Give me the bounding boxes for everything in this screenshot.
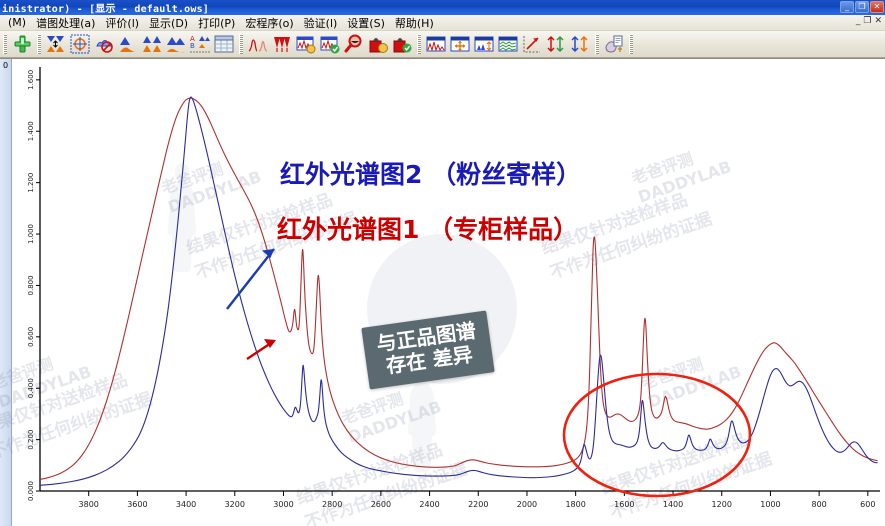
x-tick-label: 1600: [614, 500, 634, 509]
toolbar-grip[interactable]: [3, 34, 7, 54]
y-tick-label: 1.200: [27, 173, 35, 193]
menu-bar: (M) 谱图处理(a) 评价(l) 显示(D) 打印(P) 宏程序(o) 验证(…: [0, 15, 885, 31]
x-tick-label: 3200: [225, 500, 245, 509]
menu-item-validation[interactable]: 验证(l): [299, 14, 343, 32]
mdi-close-button[interactable]: ✕: [874, 17, 882, 26]
peak-mark-icon[interactable]: [271, 33, 293, 55]
document-rail[interactable]: 0: [0, 59, 12, 526]
spectrum-plot[interactable]: 结果仅针对送检样品 不作为任何纠纷的证据 结果仅针对送检样品 不作为任何纠纷的证…: [12, 59, 885, 526]
svg-text:B: B: [190, 42, 195, 50]
expand-y-icon[interactable]: [545, 33, 567, 55]
toolbar-grip-5[interactable]: [595, 34, 599, 54]
overlay-icon[interactable]: [165, 33, 187, 55]
pan-view-icon[interactable]: [449, 33, 471, 55]
toolbar-grip-2[interactable]: [37, 34, 41, 54]
mdi-window-controls: _ ❐ ✕: [856, 17, 882, 26]
x-tick-label: 600: [860, 500, 875, 509]
scale-view-icon[interactable]: [473, 33, 495, 55]
y-tick-label: 0.200: [27, 430, 35, 450]
y-tick-label: 0.800: [27, 275, 35, 295]
x-tick-label: 2800: [322, 500, 342, 509]
quant-verify-icon[interactable]: [391, 33, 413, 55]
toolbar-group-report: [602, 31, 636, 57]
expand-x-icon[interactable]: [569, 33, 591, 55]
x-tick-label: 2600: [371, 500, 391, 509]
menu-item-help[interactable]: 帮助(H): [390, 14, 439, 32]
application-window: inistrator) - [显示 - default.ows] _ ❐ ✕ (…: [0, 0, 885, 526]
subtract-spectrum-icon[interactable]: [93, 33, 115, 55]
menu-item-spectrum-processing[interactable]: 谱图处理(a): [31, 14, 100, 32]
mdi-restore-button[interactable]: ❐: [863, 17, 871, 26]
rail-index-label: 0: [0, 59, 11, 70]
toolbar-group-analysis: [246, 31, 424, 57]
x-tick-label: 1800: [565, 500, 585, 509]
menu-item-macro[interactable]: 宏程序(o): [240, 14, 298, 32]
menu-item-file[interactable]: (M): [3, 15, 31, 30]
toolbar-group-view: [424, 31, 602, 57]
merge-peaks-icon[interactable]: [141, 33, 163, 55]
y-tick-label: 1.400: [27, 121, 35, 141]
toolbar-group-spectrum-tools: A B: [44, 31, 246, 57]
x-tick-label: 1200: [712, 500, 732, 509]
menu-item-print[interactable]: 打印(P): [193, 14, 240, 32]
menu-item-display[interactable]: 显示(D): [144, 14, 193, 32]
toolbar-group-sample: [0, 31, 44, 57]
full-spectrum-view-icon[interactable]: [425, 33, 447, 55]
x-tick-label: 3400: [176, 500, 196, 509]
restore-button[interactable]: ❐: [855, 1, 869, 13]
menu-item-settings[interactable]: 设置(S): [342, 14, 390, 32]
y-tick-label: 0.400: [27, 378, 35, 398]
spectrum-grid-icon[interactable]: [69, 33, 91, 55]
menu-item-evaluate[interactable]: 评价(l): [100, 14, 144, 32]
series1-annotation-label: 红外光谱图1 （专柜样品）: [277, 217, 578, 242]
quant-run-icon[interactable]: [367, 33, 389, 55]
x-tick-label: 2400: [419, 500, 439, 509]
series2-annotation-label: 红外光谱图2 （粉丝寄样）: [280, 162, 581, 187]
minimize-button[interactable]: _: [840, 1, 854, 13]
x-tick-label: 1400: [663, 500, 683, 509]
x-tick-label: 3600: [127, 500, 147, 509]
x-tick-label: 2000: [517, 500, 537, 509]
series-line-1: [40, 98, 878, 479]
ab-compare-icon[interactable]: A B: [189, 33, 211, 55]
report-print-icon[interactable]: [603, 33, 625, 55]
y-tick-label: 1.600: [27, 70, 35, 90]
close-button[interactable]: ✕: [870, 1, 884, 13]
y-tick-label: 0.600: [27, 327, 35, 347]
toolbar-grip-6[interactable]: [629, 34, 633, 54]
x-tick-label: 1000: [760, 500, 780, 509]
zoom-search-icon[interactable]: [343, 33, 365, 55]
library-verify-icon[interactable]: [319, 33, 341, 55]
main-toolbar: A B: [0, 31, 885, 58]
spectrum-canvas[interactable]: 0.0000.2000.4000.6000.8001.0001.2001.400…: [12, 59, 885, 526]
window-controls: _ ❐ ✕: [840, 1, 884, 13]
library-search-icon[interactable]: [295, 33, 317, 55]
peak-pick-icon[interactable]: [247, 33, 269, 55]
mdi-minimize-button[interactable]: _: [856, 17, 861, 26]
sample-holder-icon[interactable]: [11, 33, 33, 55]
y-tick-label: 1.000: [27, 224, 35, 244]
stack-view-icon[interactable]: [497, 33, 519, 55]
baseline-icon[interactable]: [117, 33, 139, 55]
peak-compare-icon[interactable]: [45, 33, 67, 55]
data-table-icon[interactable]: [213, 33, 235, 55]
chart-client-area: 0 结果仅针对送检样品 不作为任何纠纷的证据 结果仅针对送检样品 不作为任何纠纷…: [0, 58, 885, 526]
autoscale-icon[interactable]: [521, 33, 543, 55]
x-tick-label: 2200: [468, 500, 488, 509]
toolbar-grip-3[interactable]: [239, 34, 243, 54]
x-tick-label: 800: [811, 500, 826, 509]
x-tick-label: 3800: [79, 500, 99, 509]
x-tick-label: 3000: [273, 500, 293, 509]
toolbar-grip-4[interactable]: [417, 34, 421, 54]
y-tick-label: 0.000: [27, 481, 35, 501]
